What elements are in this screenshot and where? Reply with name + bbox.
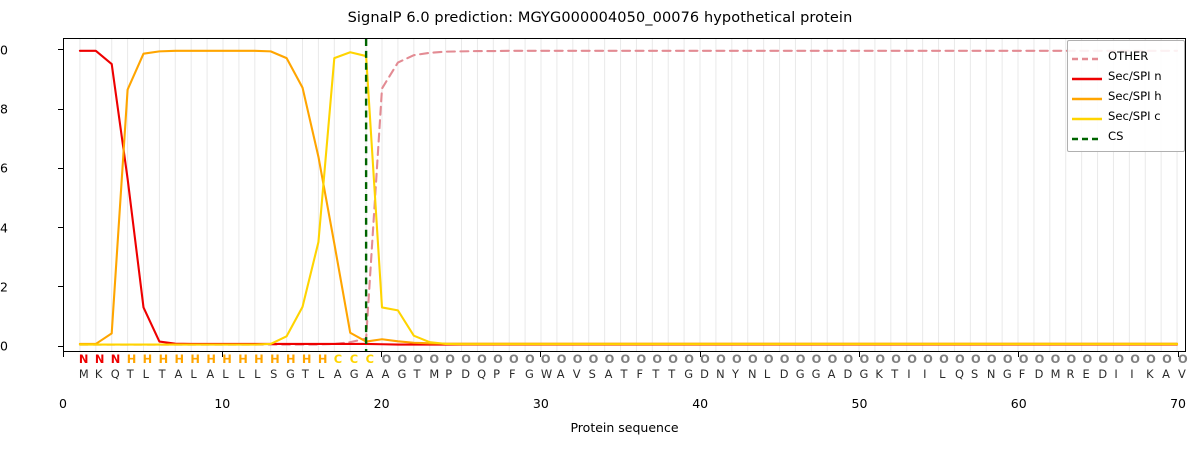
legend-swatch-icon <box>1072 130 1102 142</box>
data-series-layer <box>64 39 1185 351</box>
plot-area <box>63 38 1186 352</box>
legend-item-sec-spi-h[interactable]: Sec/SPI h <box>1072 86 1180 106</box>
x-tick-label: 20 <box>374 396 390 411</box>
x-tick-label: 40 <box>692 396 708 411</box>
chart-title: SignalP 6.0 prediction: MGYG000004050_00… <box>0 10 1200 26</box>
x-tick-label: 70 <box>1170 396 1186 411</box>
x-tick-label: 0 <box>59 396 67 411</box>
x-tick-label: 30 <box>533 396 549 411</box>
y-tick-label: 0.6 <box>0 161 8 176</box>
legend-label: Sec/SPI h <box>1108 89 1162 103</box>
x-tick-label: 50 <box>852 396 868 411</box>
x-tick-mark <box>63 352 64 357</box>
legend-swatch-icon <box>1072 70 1102 82</box>
legend-item-sec-spi-n[interactable]: Sec/SPI n <box>1072 66 1180 86</box>
x-tick-label: 10 <box>214 396 230 411</box>
y-tick-label: 0.2 <box>0 279 8 294</box>
legend-label: OTHER <box>1108 49 1148 63</box>
legend-swatch-icon <box>1072 110 1102 122</box>
y-tick-label: 0.8 <box>0 102 8 117</box>
legend-swatch-icon <box>1072 50 1102 62</box>
legend[interactable]: OTHERSec/SPI nSec/SPI hSec/SPI cCS <box>1067 40 1185 152</box>
legend-item-other[interactable]: OTHER <box>1072 46 1180 66</box>
y-tick-label: 0.4 <box>0 220 8 235</box>
x-tick-label: 60 <box>1011 396 1027 411</box>
signalp-prediction-figure: SignalP 6.0 prediction: MGYG000004050_00… <box>0 0 1200 450</box>
legend-item-cs[interactable]: CS <box>1072 126 1180 146</box>
legend-label: Sec/SPI c <box>1108 109 1161 123</box>
legend-label: CS <box>1108 129 1123 143</box>
legend-item-sec-spi-c[interactable]: Sec/SPI c <box>1072 106 1180 126</box>
y-tick-label: 1.0 <box>0 42 8 57</box>
legend-swatch-icon <box>1072 90 1102 102</box>
y-tick-label: 0.0 <box>0 339 8 354</box>
legend-label: Sec/SPI n <box>1108 69 1162 83</box>
x-axis-label: Protein sequence <box>63 420 1186 435</box>
